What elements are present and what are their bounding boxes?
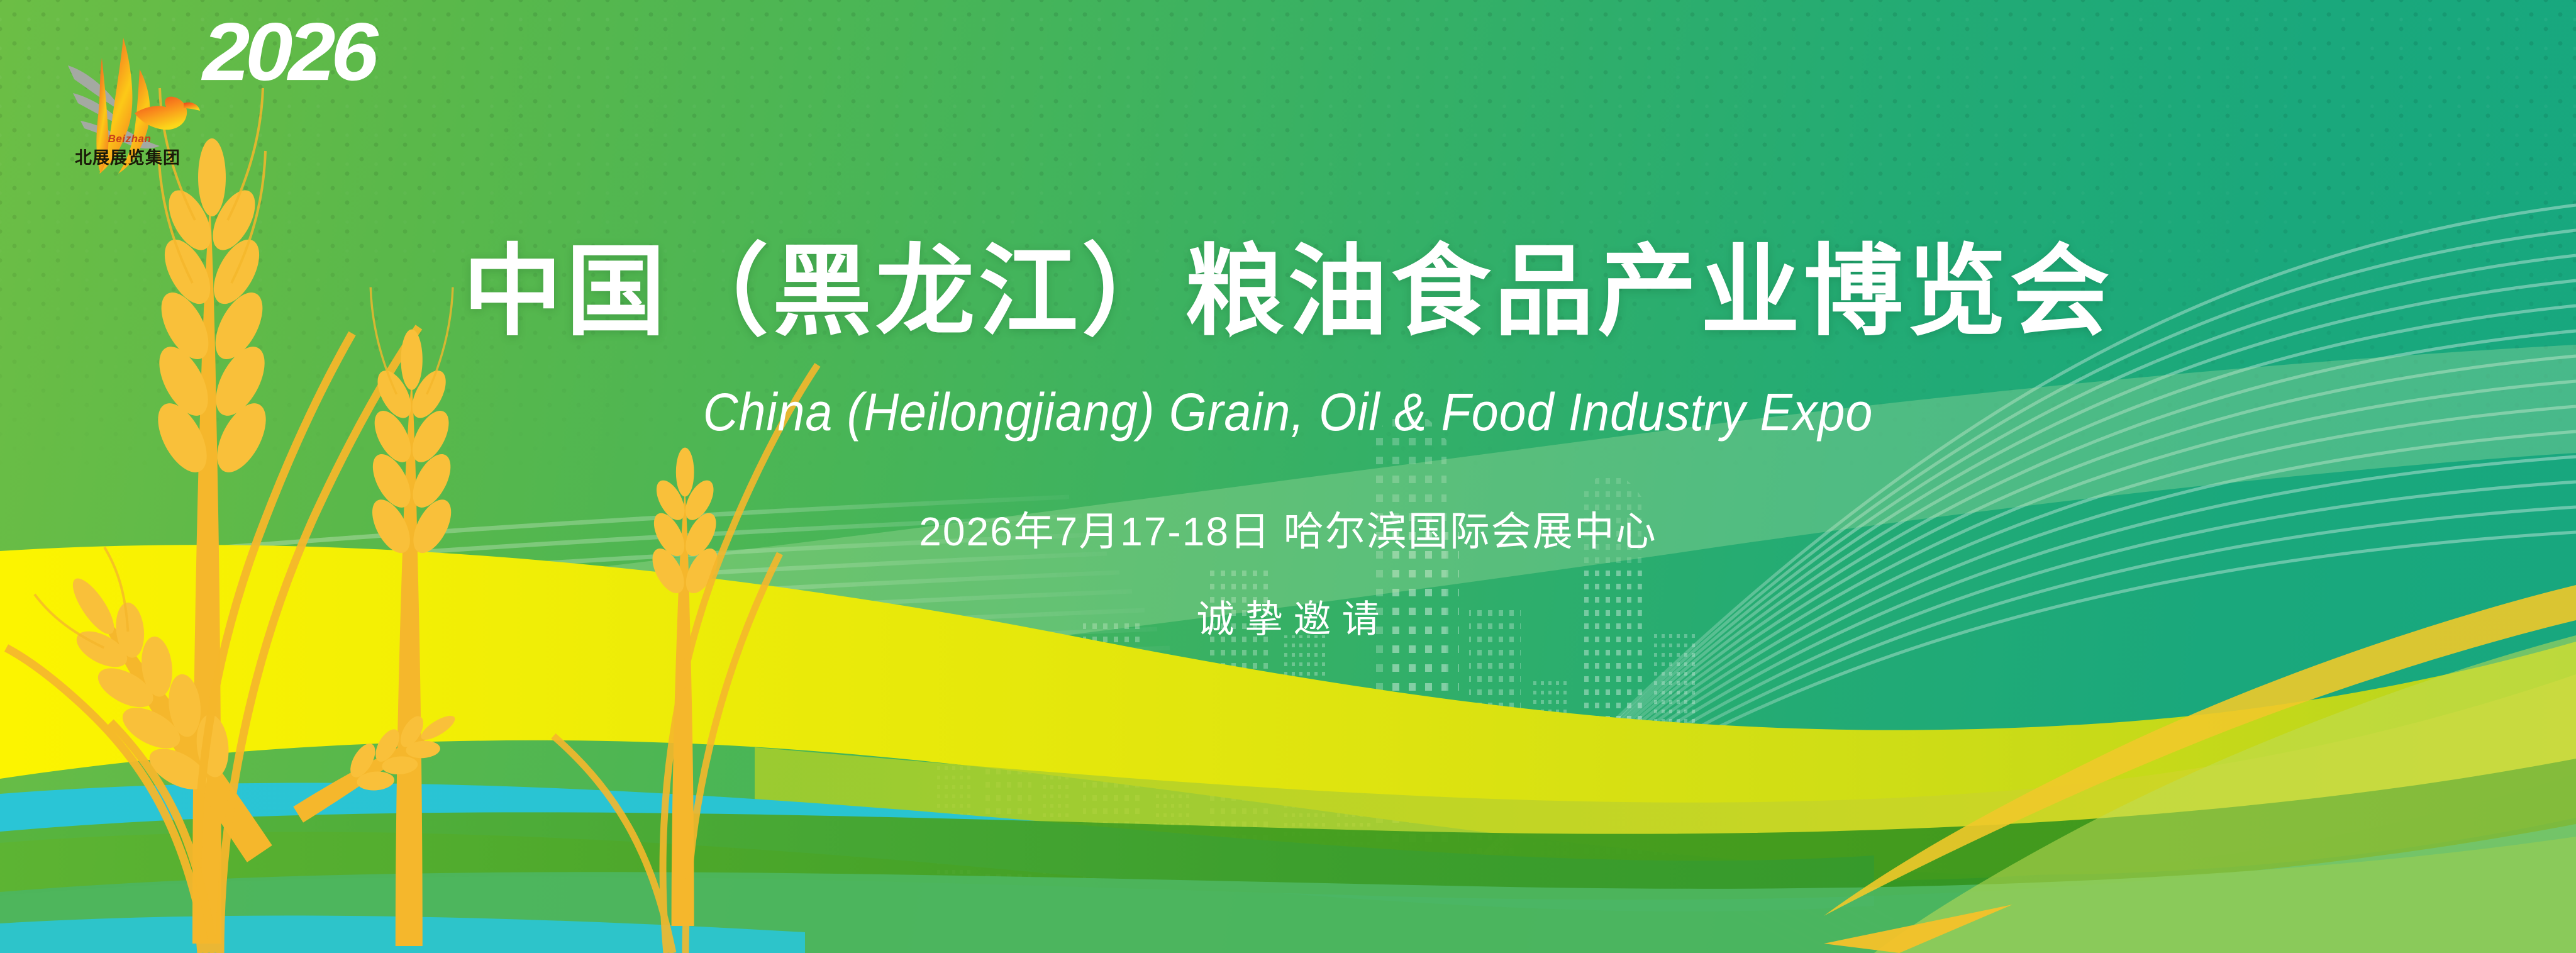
expo-banner: Beizhan 北展展览集团 2026 中国（黑龙江）粮油食品产业博览会 Chi… — [0, 0, 2576, 953]
year-badge: 2026 — [203, 11, 374, 94]
decorative-graphics-layer — [0, 0, 2576, 953]
organizer-name: 北展展览集团 — [68, 150, 187, 167]
organizer-pinyin: Beizhan — [73, 133, 186, 144]
